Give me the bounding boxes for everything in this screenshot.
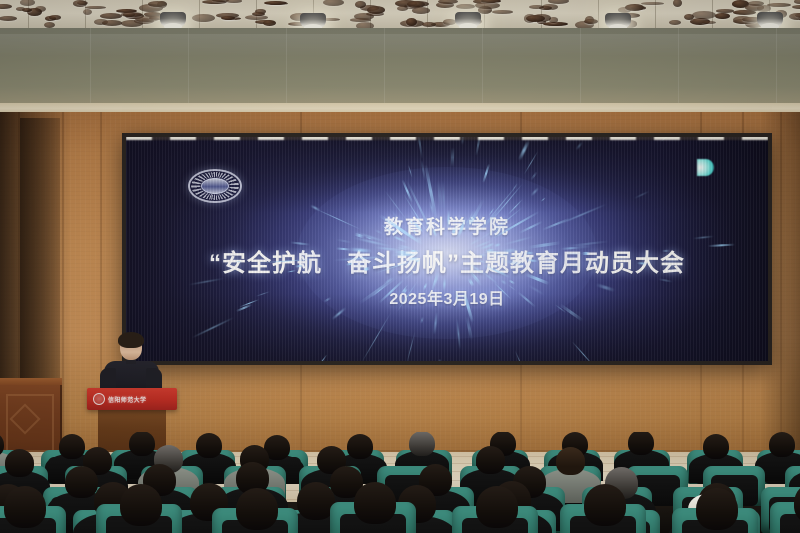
podium-banner-text: 信阳师范大学 [108, 395, 146, 404]
acoustic-panel-hole [406, 18, 417, 26]
acoustic-panel-hole [20, 0, 36, 6]
attendee-head [354, 482, 396, 524]
light-streak [662, 250, 671, 252]
acoustic-panel-hole [102, 20, 122, 26]
attendee-head [4, 486, 46, 528]
podium-seal-icon [93, 393, 105, 405]
acoustic-panel-hole [350, 18, 371, 22]
acoustic-panel-hole [44, 22, 55, 28]
light-streak [443, 278, 445, 291]
ceiling-spotlight [455, 12, 481, 28]
ceiling-spotlight [757, 12, 783, 28]
upper-wall-seam [678, 28, 679, 106]
upper-wall-seam [90, 28, 91, 106]
acoustic-panel-hole [226, 0, 241, 3]
acoustic-panel-hole [702, 21, 716, 25]
acoustic-panel-hole [412, 7, 430, 14]
attendee-head [120, 484, 162, 526]
acoustic-panel-hole [264, 1, 287, 5]
acoustic-panel-hole [0, 16, 17, 21]
cabinet-top [0, 378, 62, 385]
acoustic-panel-hole [669, 20, 680, 25]
speaker-hair [118, 332, 144, 348]
acoustic-panel-hole [733, 10, 756, 15]
led-screen-surface: 教育科学学院 “安全护航 奋斗扬帆”主题教育月动员大会 2025年3月19日 [126, 137, 768, 361]
upper-wall-seam [286, 28, 287, 106]
acoustic-panel-hole [625, 4, 643, 11]
light-streak [391, 254, 419, 256]
acoustic-panel-hole [767, 3, 791, 7]
acoustic-panel-hole [355, 1, 365, 8]
light-streak [235, 261, 242, 262]
acoustic-panel-hole [252, 12, 266, 16]
acoustic-panel-hole [148, 1, 167, 7]
acoustic-panel-hole [49, 15, 61, 20]
upper-wall-seam [580, 28, 581, 106]
ceiling-spotlight [160, 12, 186, 28]
auditorium-photo: 教育科学学院 “安全护航 奋斗扬帆”主题教育月动员大会 2025年3月19日 信… [0, 0, 800, 533]
led-pixel-grid [126, 137, 768, 361]
acoustic-panel-hole [641, 2, 664, 6]
attendee-head [696, 488, 738, 530]
upper-wall [0, 28, 800, 106]
led-screen: 教育科学学院 “安全护航 奋斗扬帆”主题教育月动员大会 2025年3月19日 [122, 133, 772, 365]
acoustic-panel-hole [438, 0, 458, 4]
attendee-head [236, 488, 278, 530]
acoustic-panel-hole [443, 19, 456, 26]
ceiling-spotlight [605, 13, 631, 29]
acoustic-panel-hole [792, 5, 800, 9]
podium-banner: 信阳师范大学 [87, 388, 177, 410]
ceiling-panel-seam [598, 0, 599, 30]
acoustic-panel-hole [673, 0, 682, 7]
upper-wall-seam [482, 28, 483, 106]
acoustic-panel-hole [526, 15, 545, 22]
audience-foreground-row [0, 432, 800, 533]
acoustic-panel-hole [584, 19, 598, 24]
audience-area [0, 432, 800, 533]
upper-wall-seam [384, 28, 385, 106]
screen-top-light-strip [126, 133, 772, 140]
ceiling [0, 0, 800, 30]
light-streak [438, 358, 440, 361]
attendee-head [584, 484, 626, 526]
acoustic-panel-hole [748, 1, 764, 6]
acoustic-panel-hole [323, 0, 344, 6]
acoustic-panel-hole [456, 4, 474, 9]
acoustic-panel-hole [135, 16, 159, 22]
acoustic-panel-hole [475, 2, 500, 9]
acoustic-panel-hole [263, 20, 276, 26]
acoustic-panel-hole [83, 9, 93, 15]
light-streak [478, 254, 488, 256]
acoustic-panel-hole [492, 10, 513, 14]
acoustic-panel-hole [794, 0, 800, 4]
acoustic-panel-hole [121, 12, 142, 16]
ceiling-spotlight [300, 13, 326, 29]
acoustic-panel-hole [422, 22, 436, 27]
attendee-head [476, 486, 518, 528]
upper-wall-seam [776, 28, 777, 106]
acoustic-panel-hole [0, 4, 12, 10]
acoustic-panel-hole [397, 6, 408, 11]
acoustic-panel-hole [192, 14, 216, 22]
acoustic-panel-hole [715, 13, 730, 20]
acoustic-panel-hole [481, 0, 501, 3]
wall-sheen [0, 34, 800, 56]
upper-wall-seam [188, 28, 189, 106]
